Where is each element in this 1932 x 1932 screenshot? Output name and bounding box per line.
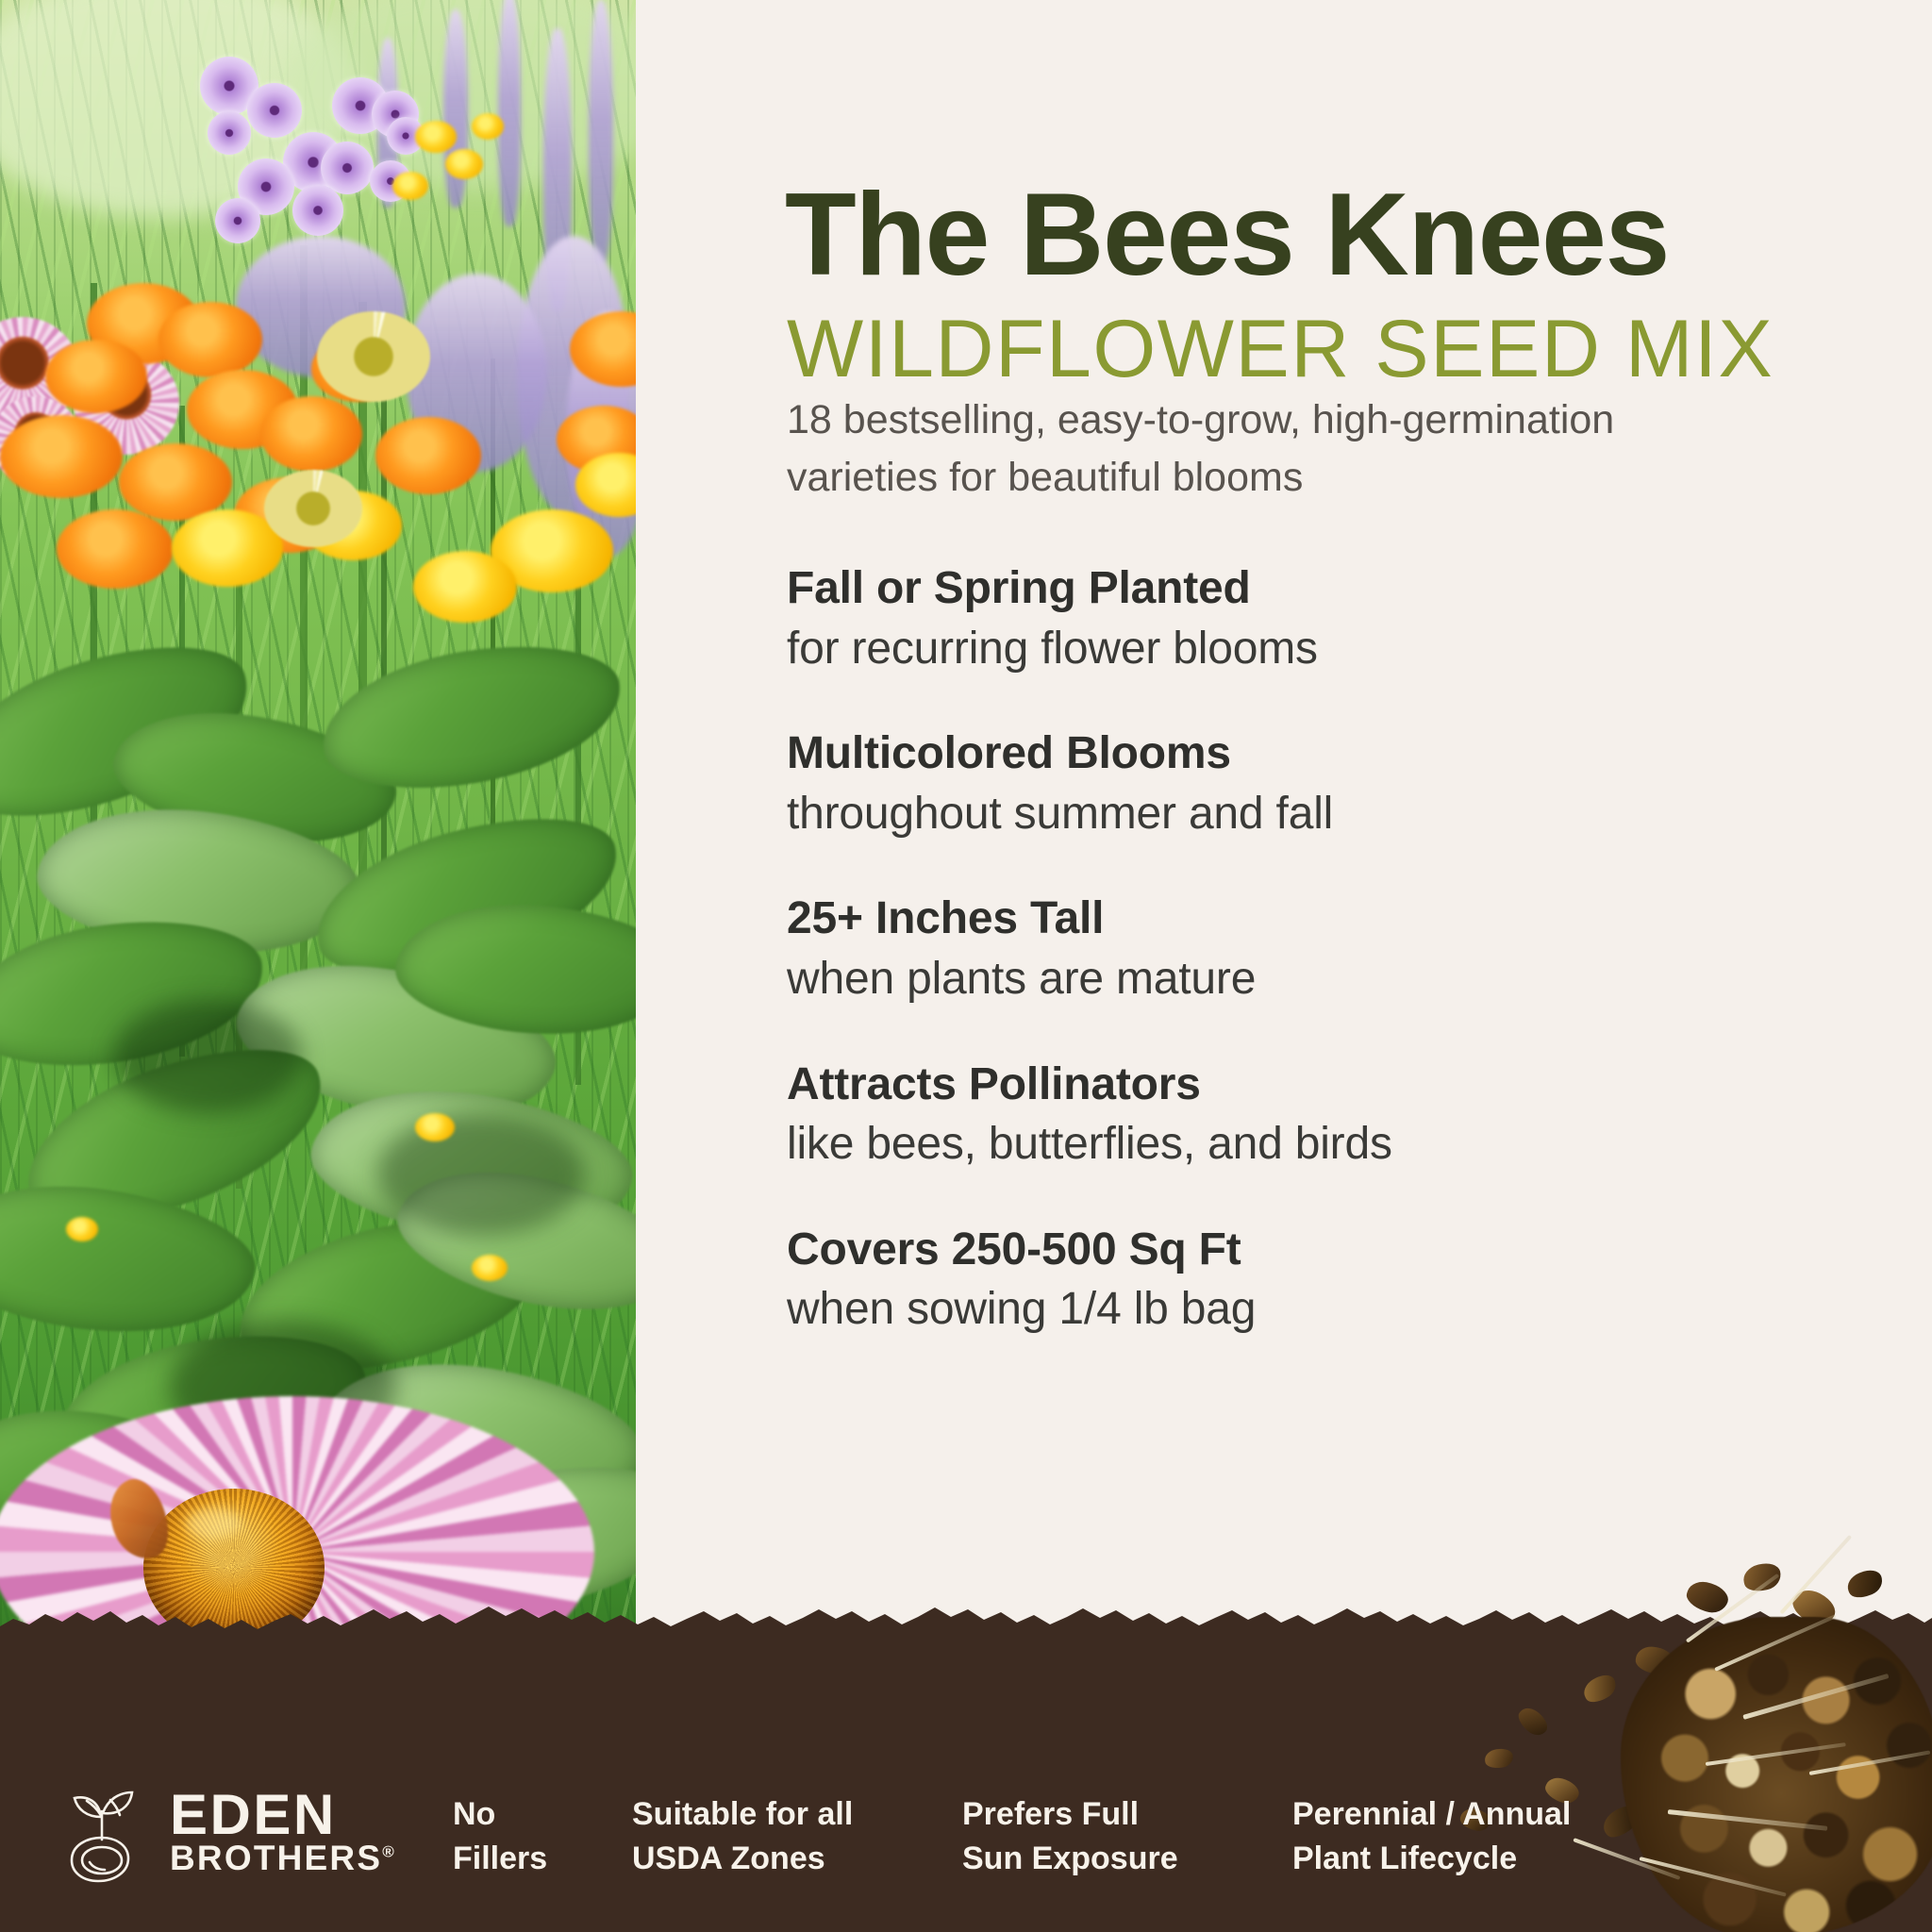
feature-list: Fall or Spring Planted for recurring flo… <box>787 562 1843 1338</box>
feature-title: Multicolored Blooms <box>787 727 1843 781</box>
yellow-bloom <box>472 113 504 140</box>
petunia-flower <box>247 83 302 138</box>
footer-attribute-usda-zones: Suitable for all USDA Zones <box>632 1792 962 1881</box>
content-panel: The Bees Knees WILDFLOWER SEED MIX 18 be… <box>636 0 1932 1707</box>
yellow-bloom <box>445 149 483 179</box>
butterfly-weed-bloom <box>45 340 147 413</box>
foliage-shadow <box>377 1113 585 1236</box>
feature-title: 25+ Inches Tall <box>787 892 1843 946</box>
feature-item: Fall or Spring Planted for recurring flo… <box>787 562 1843 676</box>
butterfly-weed-bloom <box>119 443 232 521</box>
footer-attribute-sun-exposure: Prefers Full Sun Exposure <box>962 1792 1292 1881</box>
footer-attribute-no-fillers: No Fillers <box>453 1792 632 1881</box>
daisy-bloom <box>317 311 430 402</box>
yellow-umbel-bloom <box>413 551 517 623</box>
lavender-spike <box>498 0 521 226</box>
lavender-spike <box>589 0 613 264</box>
feature-subtitle: like bees, butterflies, and birds <box>787 1117 1843 1173</box>
footer-attribute-line-2: Plant Lifecycle <box>1292 1837 1651 1881</box>
foliage-shadow <box>113 1000 302 1113</box>
footer-attribute-line-2: USDA Zones <box>632 1837 962 1881</box>
footer-attribute-line-1: Suitable for all <box>632 1792 962 1837</box>
footer-attribute-line-1: Perennial / Annual <box>1292 1792 1651 1837</box>
yellow-bloom <box>66 1217 98 1241</box>
logo-brothers-text: BROTHERS® <box>170 1842 396 1875</box>
petunia-flower <box>292 185 343 236</box>
footer-attribute-line-1: No <box>453 1792 632 1837</box>
feature-subtitle: for recurring flower blooms <box>787 622 1843 677</box>
page-title: The Bees Knees <box>785 176 1669 293</box>
feature-subtitle: when plants are mature <box>787 952 1843 1008</box>
yellow-bloom <box>415 1113 455 1141</box>
feature-item: Covers 250-500 Sq Ft when sowing 1/4 lb … <box>787 1224 1843 1338</box>
footer-attribute-line-1: Prefers Full <box>962 1792 1292 1837</box>
feature-item: Multicolored Blooms throughout summer an… <box>787 727 1843 841</box>
feature-title: Covers 250-500 Sq Ft <box>787 1224 1843 1277</box>
footer-attribute-line-2: Fillers <box>453 1837 632 1881</box>
butterfly-weed-bloom <box>260 396 362 472</box>
feature-item: 25+ Inches Tall when plants are mature <box>787 892 1843 1007</box>
torn-paper-edge <box>0 1583 1932 1649</box>
coneflower-highlight <box>185 1507 241 1540</box>
wildflower-meadow-photo <box>0 0 636 1707</box>
yellow-bloom <box>472 1255 508 1281</box>
registered-trademark-icon: ® <box>382 1842 396 1860</box>
butterfly-weed-bloom <box>57 509 174 589</box>
feature-item: Attracts Pollinators like bees, butterfl… <box>787 1058 1843 1173</box>
footer-attributes: No Fillers Suitable for all USDA Zones P… <box>453 1792 1651 1881</box>
product-infographic: The Bees Knees WILDFLOWER SEED MIX 18 be… <box>0 0 1932 1932</box>
description-line-1: 18 bestselling, easy-to-grow, high-germi… <box>787 397 1614 442</box>
logo-brothers-word: BROTHERS <box>170 1839 382 1877</box>
daisy-bloom <box>264 470 362 547</box>
product-description: 18 bestselling, easy-to-grow, high-germi… <box>787 391 1787 507</box>
description-line-2: varieties for beautiful blooms <box>787 455 1303 500</box>
petunia-flower <box>208 111 251 155</box>
butterfly-weed-bloom <box>158 302 262 377</box>
petunia-flower <box>215 198 260 243</box>
yellow-bloom <box>415 121 457 153</box>
footer-attribute-line-2: Sun Exposure <box>962 1837 1292 1881</box>
butterfly-weed-bloom <box>0 415 123 498</box>
feature-title: Attracts Pollinators <box>787 1058 1843 1112</box>
logo-wordmark: EDEN BROTHERS® <box>170 1789 396 1874</box>
logo-eden-text: EDEN <box>170 1789 396 1841</box>
feature-subtitle: when sowing 1/4 lb bag <box>787 1282 1843 1338</box>
feature-subtitle: throughout summer and fall <box>787 787 1843 842</box>
feature-title: Fall or Spring Planted <box>787 562 1843 616</box>
seed-sprout-icon <box>58 1779 149 1885</box>
page-subtitle: WILDFLOWER SEED MIX <box>787 308 1774 390</box>
footer-attribute-lifecycle: Perennial / Annual Plant Lifecycle <box>1292 1792 1651 1881</box>
yellow-bloom <box>392 172 428 200</box>
butterfly-weed-bloom <box>375 417 481 494</box>
eden-brothers-logo: EDEN BROTHERS® <box>58 1779 396 1885</box>
